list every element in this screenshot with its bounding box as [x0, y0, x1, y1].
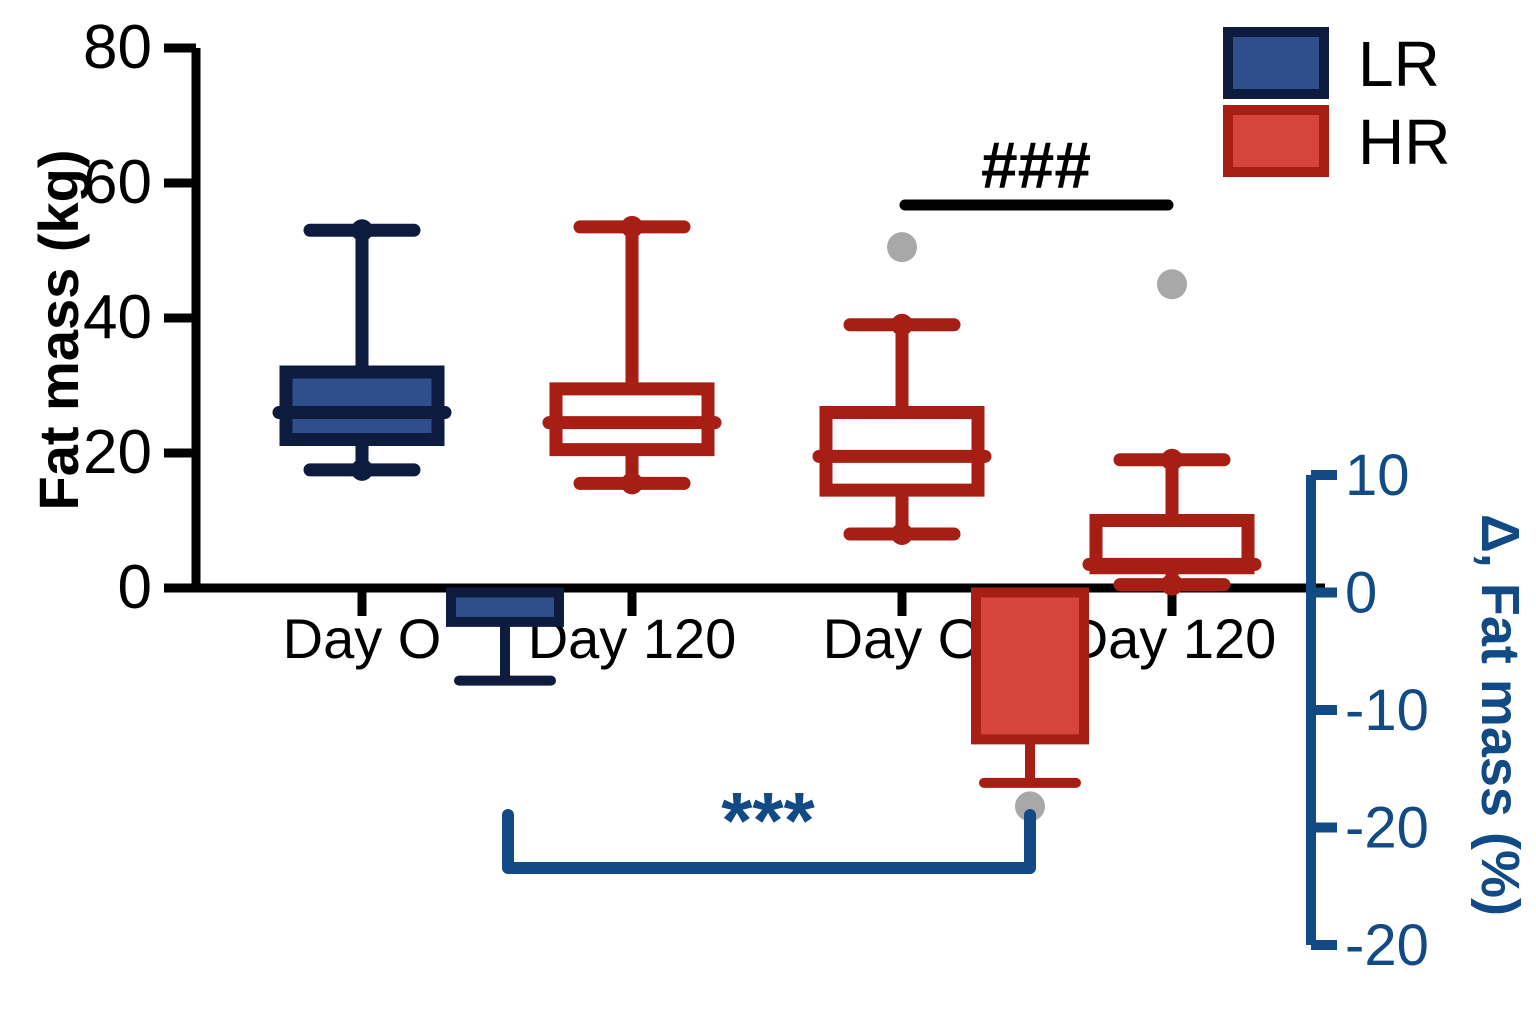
box-plot [279, 219, 445, 481]
legend-swatch [1228, 110, 1324, 172]
outlier-point [1157, 269, 1187, 299]
x-axis-label: Day O [283, 607, 442, 670]
figure-canvas: 020406080Fat mass (kg)Day ODay 120Day OD… [0, 0, 1536, 1024]
box-plot [549, 216, 715, 495]
min-point-marker [621, 472, 643, 494]
left-axis-tick-label: 20 [83, 418, 152, 487]
right-axis: 100-10-20-20Δ, Fat mass (%) [1311, 443, 1530, 978]
right-axis-tick-label: 0 [1345, 561, 1377, 626]
max-point-marker [1161, 449, 1183, 471]
box-plot-chart: 020406080Fat mass (kg)Day ODay 120Day OD… [0, 0, 1536, 1024]
legend-label: HR [1358, 106, 1450, 178]
left-axis-title: Fat mass (kg) [27, 150, 90, 511]
delta-bar-rect [451, 593, 559, 622]
star-significance-annotation: *** [508, 776, 1030, 868]
legend-label: LR [1358, 28, 1440, 100]
legend-item[interactable]: LR [1228, 28, 1440, 100]
right-axis-tick-label: -10 [1345, 678, 1429, 743]
right-axis-tick-label: 10 [1345, 443, 1410, 508]
min-point-marker [1161, 574, 1183, 596]
max-point-marker [891, 314, 913, 336]
box-plot [819, 232, 985, 545]
left-axis-tick-label: 60 [83, 148, 152, 217]
left-axis: 020406080Fat mass (kg) [27, 13, 196, 622]
legend-item[interactable]: HR [1228, 106, 1450, 178]
hash-significance-annotation: ### [905, 128, 1168, 205]
legend: LRHR [1228, 28, 1450, 178]
legend-swatch [1228, 32, 1324, 94]
x-axis-label: Day O [823, 607, 982, 670]
min-point-marker [351, 459, 373, 481]
hash-significance-label: ### [981, 128, 1091, 202]
right-axis-tick-label: -20 [1345, 796, 1429, 861]
delta-bar-rect [976, 593, 1084, 740]
left-axis-tick-label: 40 [83, 283, 152, 352]
max-point-marker [351, 219, 373, 241]
max-point-marker [621, 216, 643, 238]
delta-bar [976, 593, 1084, 822]
left-axis-tick-label: 0 [118, 553, 152, 622]
x-axis: Day ODay 120Day ODay 120 [283, 588, 1277, 670]
min-point-marker [891, 523, 913, 545]
left-axis-tick-label: 80 [83, 13, 152, 82]
box-iqr [286, 372, 438, 440]
outlier-point [887, 232, 917, 262]
right-axis-title: Δ, Fat mass (%) [1470, 514, 1530, 916]
star-significance-label: *** [721, 776, 815, 865]
right-axis-tick-label: -20 [1345, 913, 1429, 978]
x-axis-label: Day 120 [1068, 607, 1277, 670]
box-plot [1089, 269, 1255, 595]
